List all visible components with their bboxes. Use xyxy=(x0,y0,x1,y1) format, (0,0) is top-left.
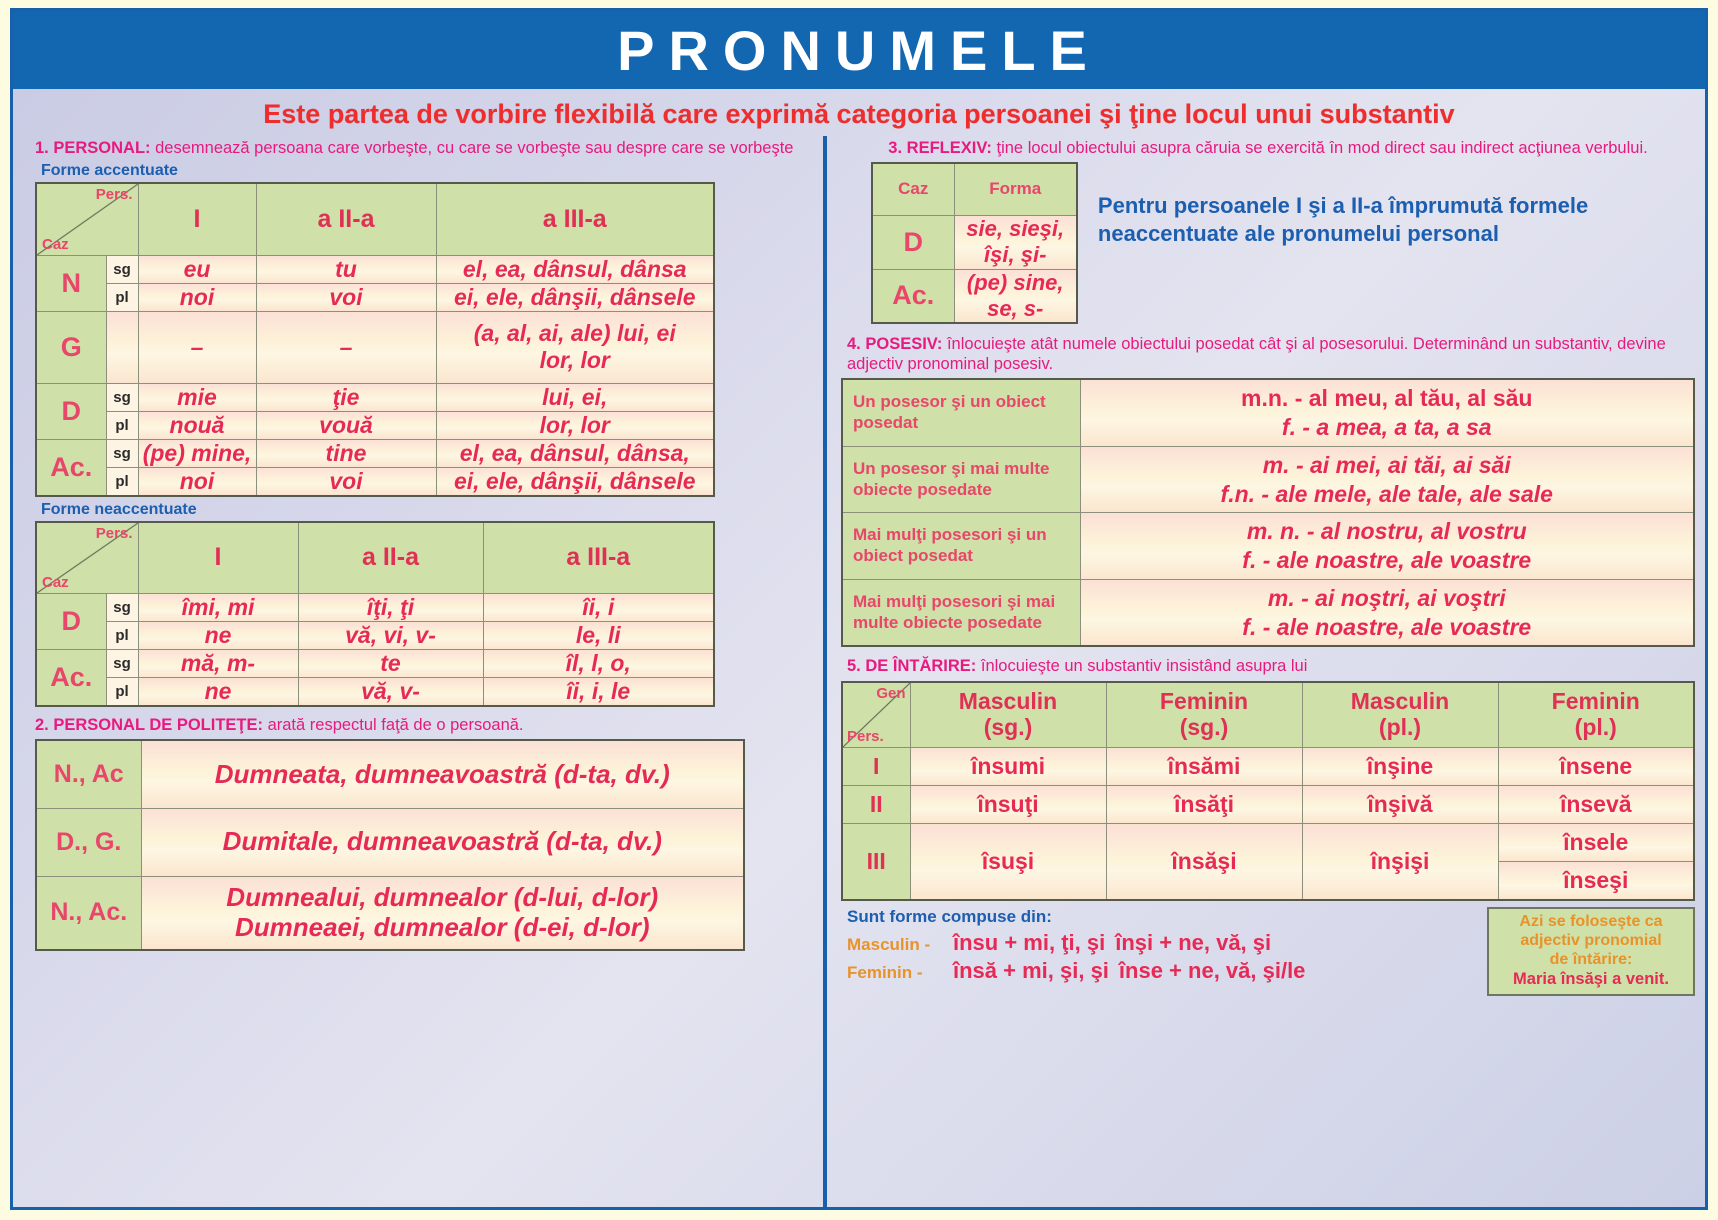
poster-root: PRONUMELE Este partea de vorbire flexibi… xyxy=(0,0,1718,1220)
number-label-pl: pl xyxy=(106,467,138,496)
cell-value-group: Dumnealui, dumnealor (d-lui, d-lor) Dumn… xyxy=(141,876,744,949)
table-row: I însumi însămi înşine însene xyxy=(842,748,1694,786)
cell-value: el, ea, dânsul, dânsa, xyxy=(436,439,714,467)
col-header-bottom: (sg.) xyxy=(911,715,1106,740)
cell-value: însele xyxy=(1498,824,1694,862)
row-label-posesor: Un posesor şi mai multe obiecte posedate xyxy=(842,446,1080,513)
row-label-caz: Ac. xyxy=(872,269,954,323)
row-label-pers: II xyxy=(842,786,910,824)
cell-value: însămi xyxy=(1106,748,1302,786)
table-header-row: Pers. Caz I a II-a a III-a xyxy=(36,522,714,594)
row-label-caz: D., G. xyxy=(36,808,141,876)
table-politete: N., Ac Dumneata, dumneavoastră (d-ta, dv… xyxy=(35,739,745,950)
section-name-posesiv: POSESIV: xyxy=(865,335,942,353)
corner-label-pers: Pers. xyxy=(847,728,884,745)
col-header-masculin-sg: Masculin (sg.) xyxy=(910,682,1106,748)
compuse-block: Sunt forme compuse din: Masculin - însu … xyxy=(841,907,1695,996)
row-label-pers: III xyxy=(842,824,910,901)
cell-value-line1: m.n. - al meu, al tău, al său xyxy=(1081,384,1694,413)
col-header-bottom: (pl.) xyxy=(1303,715,1498,740)
section-heading-reflexiv: 3. REFLEXIV: ţine locul obiectului asupr… xyxy=(841,138,1695,158)
row-label-caz: G xyxy=(36,311,106,383)
number-label-sg: sg xyxy=(106,594,138,622)
cell-value: însuţi xyxy=(910,786,1106,824)
table-reflexiv: Caz Forma D sie, sieşi, îşi, şi- Ac. (pe… xyxy=(871,162,1078,324)
cell-value: Dumitale, dumneavoastră (d-ta, dv.) xyxy=(141,808,744,876)
table-forme-accentuate: Pers. Caz I a II-a a III-a N sg eu tu el… xyxy=(35,182,715,497)
compuse-label: Feminin - xyxy=(847,963,943,983)
cell-value: (a, al, ai, ale) lui, ei lor, lor xyxy=(436,311,714,383)
table-row: pl ne vă, vi, v- le, li xyxy=(36,622,714,650)
cell-value-line2: f. - a mea, a ta, a sa xyxy=(1081,413,1694,442)
table-row: III îsuşi însăşi înşişi însele xyxy=(842,824,1694,862)
cell-value: tu xyxy=(256,255,436,283)
azi-line-1: Azi se foloseşte ca xyxy=(1493,913,1689,932)
row-label-caz: N xyxy=(36,255,106,311)
col-header-bottom: (sg.) xyxy=(1107,715,1302,740)
row-label-posesor: Mai mulţi posesori şi mai multe obiecte … xyxy=(842,579,1080,646)
cell-value: ţie xyxy=(256,383,436,411)
row-label-caz: D xyxy=(36,383,106,439)
table-row: Ac. (pe) sine, se, s- xyxy=(872,269,1077,323)
table-header-row: Pers. Caz I a II-a a III-a xyxy=(36,183,714,255)
section-desc-posesiv: înlocuieşte atât numele obiectului posed… xyxy=(847,335,1666,373)
table-row: G – – (a, al, ai, ale) lui, ei lor, lor xyxy=(36,311,714,383)
table-intarire: Gen Pers. Masculin (sg.) Feminin (sg.) xyxy=(841,681,1695,902)
cell-value: însene xyxy=(1498,748,1694,786)
left-column: 1. PERSONAL: desemnează persoana care vo… xyxy=(13,136,823,1207)
corner-cell-gen-pers: Gen Pers. xyxy=(842,682,910,748)
poster-title-bar: PRONUMELE xyxy=(13,11,1705,89)
table-forme-neaccentuate: Pers. Caz I a II-a a III-a D sg îmi, mi … xyxy=(35,521,715,708)
corner-cell-pers-caz: Pers. Caz xyxy=(36,183,138,255)
section-desc-reflexiv: ţine locul obiectului asupra căruia se e… xyxy=(992,139,1648,157)
cell-value: însumi xyxy=(910,748,1106,786)
section-desc-politete: arată respectul faţă de o persoană. xyxy=(263,716,524,734)
col-header-masculin-pl: Masculin (pl.) xyxy=(1302,682,1498,748)
col-header-2: a II-a xyxy=(256,183,436,255)
corner-label-pers: Pers. xyxy=(96,186,133,203)
cell-value-line1: m. - ai noştri, ai voştri xyxy=(1081,584,1694,613)
cell-value: ne xyxy=(138,622,298,650)
cell-spacer xyxy=(106,311,138,383)
cell-value: vouă xyxy=(256,411,436,439)
table-row: Mai mulţi posesori şi mai multe obiecte … xyxy=(842,579,1694,646)
cell-value: înşişi xyxy=(1302,824,1498,901)
reflexiv-block: Caz Forma D sie, sieşi, îşi, şi- Ac. (pe… xyxy=(871,162,1695,324)
corner-label-gen: Gen xyxy=(876,685,905,702)
cell-value: ei, ele, dânşii, dânsele xyxy=(436,467,714,496)
section-number-posesiv: 4. xyxy=(847,335,861,353)
row-label-caz: Ac. xyxy=(36,650,106,707)
table-row: pl nouă vouă lor, lor xyxy=(36,411,714,439)
compuse-row-feminin: Feminin - însă + mi, şi, şi înse + ne, v… xyxy=(847,958,1477,984)
cell-value: însăţi xyxy=(1106,786,1302,824)
cell-value: nouă xyxy=(138,411,256,439)
col-header-top: Masculin xyxy=(1303,689,1498,714)
section-desc-personal: desemnează persoana care vorbeşte, cu ca… xyxy=(151,139,794,157)
row-label-caz: Ac. xyxy=(36,439,106,496)
table-header-row: Caz Forma xyxy=(872,163,1077,215)
section-number-personal: 1. xyxy=(35,139,49,157)
poster-frame: PRONUMELE Este partea de vorbire flexibi… xyxy=(10,8,1708,1210)
cell-value-line2: f. - ale noastre, ale voastre xyxy=(1081,613,1694,642)
compuse-label: Masculin - xyxy=(847,935,943,955)
cell-value: – xyxy=(256,311,436,383)
compuse-text: Sunt forme compuse din: Masculin - însu … xyxy=(841,907,1477,986)
row-label-pers: I xyxy=(842,748,910,786)
cell-value-line1: m. n. - al nostru, al vostru xyxy=(1081,517,1694,546)
table-row: D., G. Dumitale, dumneavoastră (d-ta, dv… xyxy=(36,808,744,876)
section-number-intarire: 5. xyxy=(847,657,861,675)
table-row: Mai mulţi posesori şi un obiect posedat … xyxy=(842,513,1694,580)
table-row: Un posesor şi mai multe obiecte posedate… xyxy=(842,446,1694,513)
compuse-part1: însu + mi, ţi, şi xyxy=(953,930,1105,956)
number-label-pl: pl xyxy=(106,622,138,650)
cell-value: ne xyxy=(138,678,298,707)
table-row: N sg eu tu el, ea, dânsul, dânsa xyxy=(36,255,714,283)
cell-value-line2: f. - ale noastre, ale voastre xyxy=(1081,546,1694,575)
table-row: Un posesor şi un obiect posedat m.n. - a… xyxy=(842,379,1694,446)
azi-line-3: de întărire: xyxy=(1493,951,1689,970)
corner-label-caz: Caz xyxy=(42,574,69,591)
table-row: Ac. sg mă, m- te îl, l, o, xyxy=(36,650,714,678)
table-row: pl ne vă, v- îi, i, le xyxy=(36,678,714,707)
table-row: pl noi voi ei, ele, dânşii, dânsele xyxy=(36,467,714,496)
row-label-caz: D xyxy=(872,215,954,269)
cell-value: înseşi xyxy=(1498,862,1694,901)
table-row: D sie, sieşi, îşi, şi- xyxy=(872,215,1077,269)
row-label-posesor: Mai mulţi posesori şi un obiect posedat xyxy=(842,513,1080,580)
cell-value: (pe) mine, xyxy=(138,439,256,467)
col-header-caz: Caz xyxy=(872,163,954,215)
cell-value: îmi, mi xyxy=(138,594,298,622)
reflexiv-note: Pentru persoanele I şi a II-a împrumută … xyxy=(1098,162,1695,247)
cell-value: lui, ei, xyxy=(436,383,714,411)
cell-value-group: m.n. - al meu, al tău, al său f. - a mea… xyxy=(1080,379,1694,446)
section-number-politete: 2. xyxy=(35,716,49,734)
number-label-pl: pl xyxy=(106,283,138,311)
col-header-feminin-pl: Feminin (pl.) xyxy=(1498,682,1694,748)
table-row: N., Ac Dumneata, dumneavoastră (d-ta, dv… xyxy=(36,740,744,808)
col-header-feminin-sg: Feminin (sg.) xyxy=(1106,682,1302,748)
section-name-politete: PERSONAL DE POLITEŢE: xyxy=(53,716,263,734)
cell-value: Dumneata, dumneavoastră (d-ta, dv.) xyxy=(141,740,744,808)
cell-value-group: m. n. - al nostru, al vostru f. - ale no… xyxy=(1080,513,1694,580)
cell-value: el, ea, dânsul, dânsa xyxy=(436,255,714,283)
col-header-3: a III-a xyxy=(483,522,714,594)
cell-value: tine xyxy=(256,439,436,467)
col-header-bottom: (pl.) xyxy=(1499,715,1694,740)
table-row: pl noi voi ei, ele, dânşii, dânsele xyxy=(36,283,714,311)
table-row: D sg îmi, mi îţi, ţi îi, i xyxy=(36,594,714,622)
cell-value: însevă xyxy=(1498,786,1694,824)
section-heading-politete: 2. PERSONAL DE POLITEŢE: arată respectul… xyxy=(35,715,817,735)
cell-value: – xyxy=(138,311,256,383)
content-columns: 1. PERSONAL: desemnează persoana care vo… xyxy=(13,136,1705,1207)
cell-value: ei, ele, dânşii, dânsele xyxy=(436,283,714,311)
section-heading-personal: 1. PERSONAL: desemnează persoana care vo… xyxy=(35,138,817,158)
cell-value: îl, l, o, xyxy=(483,650,714,678)
number-label-sg: sg xyxy=(106,650,138,678)
cell-value: noi xyxy=(138,283,256,311)
col-header-top: Feminin xyxy=(1499,689,1694,714)
cell-value: eu xyxy=(138,255,256,283)
table-row: Ac. sg (pe) mine, tine el, ea, dânsul, d… xyxy=(36,439,714,467)
section-heading-posesiv: 4. POSESIV: înlocuieşte atât numele obie… xyxy=(847,334,1695,374)
cell-value: vă, vi, v- xyxy=(298,622,483,650)
table-posesiv: Un posesor şi un obiect posedat m.n. - a… xyxy=(841,378,1695,647)
row-label-caz: N., Ac. xyxy=(36,876,141,949)
section-heading-intarire: 5. DE ÎNTĂRIRE: înlocuieşte un substanti… xyxy=(847,656,1695,676)
section-name-personal: PERSONAL: xyxy=(53,139,150,157)
cell-value: îi, i xyxy=(483,594,714,622)
section-desc-intarire: înlocuieşte un substantiv insistând asup… xyxy=(976,657,1307,675)
col-header-1: I xyxy=(138,522,298,594)
section-number-reflexiv: 3. xyxy=(888,139,902,157)
cell-value: Dumnealui, dumnealor (d-lui, d-lor) xyxy=(142,883,744,913)
cell-value: (pe) sine, se, s- xyxy=(954,269,1077,323)
cell-value-group: m. - ai mei, ai tăi, ai săi f.n. - ale m… xyxy=(1080,446,1694,513)
cell-value: lor, lor xyxy=(436,411,714,439)
cell-value: Dumneaei, dumnealor (d-ei, d-lor) xyxy=(142,913,744,943)
cell-value-line2: f.n. - ale mele, ale tale, ale sale xyxy=(1081,480,1694,509)
cell-value: îsuşi xyxy=(910,824,1106,901)
cell-value: înşivă xyxy=(1302,786,1498,824)
col-header-2: a II-a xyxy=(298,522,483,594)
right-column: 3. REFLEXIV: ţine locul obiectului asupr… xyxy=(823,136,1705,1207)
col-header-forma: Forma xyxy=(954,163,1077,215)
cell-value: mie xyxy=(138,383,256,411)
compuse-part1: însă + mi, şi, şi xyxy=(953,958,1109,984)
azi-line-2: adjectiv pronomial xyxy=(1493,932,1689,951)
corner-label-caz: Caz xyxy=(42,236,69,253)
col-header-1: I xyxy=(138,183,256,255)
label-forme-accentuate: Forme accentuate xyxy=(41,162,817,180)
compuse-part2: înşi + ne, vă, şi xyxy=(1115,930,1271,956)
compuse-title: Sunt forme compuse din: xyxy=(847,907,1477,927)
cell-value: noi xyxy=(138,467,256,496)
table-row: N., Ac. Dumnealui, dumnealor (d-lui, d-l… xyxy=(36,876,744,949)
number-label-sg: sg xyxy=(106,439,138,467)
table-row: D sg mie ţie lui, ei, xyxy=(36,383,714,411)
number-label-pl: pl xyxy=(106,411,138,439)
col-header-top: Masculin xyxy=(911,689,1106,714)
cell-value: vă, v- xyxy=(298,678,483,707)
azi-note-box: Azi se foloseşte ca adjectiv pronomial d… xyxy=(1487,907,1695,996)
table-header-row: Gen Pers. Masculin (sg.) Feminin (sg.) xyxy=(842,682,1694,748)
section-name-reflexiv: REFLEXIV: xyxy=(907,139,992,157)
number-label-sg: sg xyxy=(106,383,138,411)
cell-value: îi, i, le xyxy=(483,678,714,707)
cell-value: voi xyxy=(256,467,436,496)
cell-value: îţi, ţi xyxy=(298,594,483,622)
page-title: PRONUMELE xyxy=(617,18,1101,83)
poster-subtitle: Este partea de vorbire flexibilă care ex… xyxy=(13,89,1705,136)
section-name-intarire: DE ÎNTĂRIRE: xyxy=(865,657,976,675)
number-label-pl: pl xyxy=(106,678,138,707)
row-label-caz: N., Ac xyxy=(36,740,141,808)
col-header-top: Feminin xyxy=(1107,689,1302,714)
cell-value: le, li xyxy=(483,622,714,650)
cell-value-group: m. - ai noştri, ai voştri f. - ale noast… xyxy=(1080,579,1694,646)
cell-value: mă, m- xyxy=(138,650,298,678)
label-forme-neaccentuate: Forme neaccentuate xyxy=(41,501,817,519)
cell-value: însăşi xyxy=(1106,824,1302,901)
cell-value: sie, sieşi, îşi, şi- xyxy=(954,215,1077,269)
number-label-sg: sg xyxy=(106,255,138,283)
table-row: II însuţi însăţi înşivă însevă xyxy=(842,786,1694,824)
cell-value-line1: m. - ai mei, ai tăi, ai săi xyxy=(1081,451,1694,480)
cell-value: te xyxy=(298,650,483,678)
row-label-posesor: Un posesor şi un obiect posedat xyxy=(842,379,1080,446)
corner-cell-pers-caz: Pers. Caz xyxy=(36,522,138,594)
cell-value: înşine xyxy=(1302,748,1498,786)
cell-value: voi xyxy=(256,283,436,311)
row-label-caz: D xyxy=(36,594,106,650)
azi-line-4: Maria însăşi a venit. xyxy=(1493,970,1689,989)
compuse-part2: înse + ne, vă, şi/le xyxy=(1119,958,1306,984)
corner-label-pers: Pers. xyxy=(96,525,133,542)
col-header-3: a III-a xyxy=(436,183,714,255)
compuse-row-masculin: Masculin - însu + mi, ţi, şi înşi + ne, … xyxy=(847,930,1477,956)
